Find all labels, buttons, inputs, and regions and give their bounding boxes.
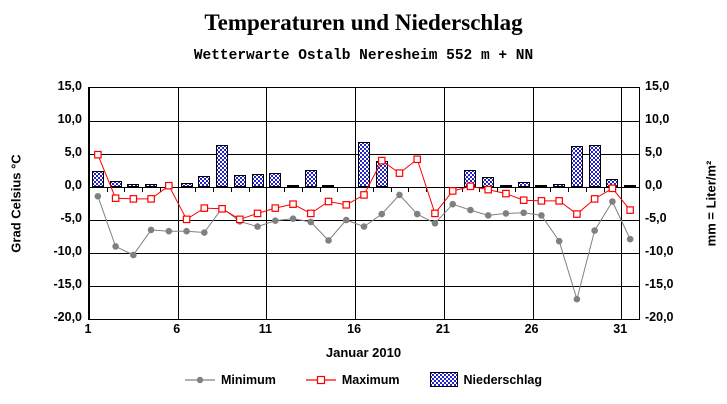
series-minimum	[95, 192, 634, 303]
point-minimum-day-4	[148, 227, 155, 234]
y-tick-label-right-5-0: 5,0	[645, 145, 693, 159]
point-maximum-day-15	[343, 202, 349, 208]
point-minimum-day-15	[343, 217, 350, 224]
y-tick-label-right--10-0: -10,0	[645, 244, 693, 258]
point-maximum-day-24	[503, 190, 509, 196]
point-minimum-day-17	[378, 211, 385, 218]
x-tick-label-6: 6	[162, 322, 192, 336]
point-maximum-day-8	[219, 206, 225, 212]
chart-title: Temperaturen und Niederschlag	[0, 10, 727, 36]
point-maximum-day-30	[609, 185, 615, 191]
y-tick-label-right-10-0: 10,0	[645, 112, 693, 126]
point-minimum-day-5	[166, 228, 173, 235]
point-minimum-day-11	[272, 217, 279, 224]
series-maximum	[95, 151, 634, 222]
legend-label-maximum: Maximum	[342, 373, 400, 387]
line-minimum	[98, 195, 630, 299]
point-maximum-day-13	[308, 210, 314, 216]
point-maximum-day-27	[556, 198, 562, 204]
point-minimum-day-1	[95, 193, 102, 200]
point-maximum-day-3	[130, 196, 136, 202]
point-maximum-day-7	[201, 205, 207, 211]
point-maximum-day-2	[112, 195, 118, 201]
point-maximum-day-29	[591, 196, 597, 202]
point-maximum-day-1	[95, 151, 101, 157]
y-tick-label-left--10-0: -10,0	[34, 244, 82, 258]
point-minimum-day-14	[325, 237, 332, 244]
y-tick-label-left-5-0: 5,0	[34, 145, 82, 159]
point-maximum-day-16	[361, 192, 367, 198]
y-tick-label-right--5-0: -5,0	[645, 211, 693, 225]
point-minimum-day-26	[538, 212, 545, 219]
temperature-series	[89, 88, 639, 319]
point-minimum-day-3	[130, 252, 137, 259]
point-minimum-day-13	[307, 219, 314, 226]
point-maximum-day-9	[237, 216, 243, 222]
y-tick-label-right-15-0: 15,0	[645, 79, 693, 93]
y-tick-label-right--20-0: -20,0	[645, 310, 693, 324]
point-maximum-day-4	[148, 196, 154, 202]
legend-item-minimum[interactable]: Minimum	[185, 373, 276, 387]
point-minimum-day-6	[183, 228, 190, 235]
point-maximum-day-23	[485, 186, 491, 192]
minimum-line-icon	[185, 374, 215, 386]
point-minimum-day-25	[520, 209, 527, 216]
point-maximum-day-12	[290, 201, 296, 207]
point-minimum-day-2	[112, 243, 119, 250]
point-minimum-day-18	[396, 192, 403, 199]
point-maximum-day-19	[414, 156, 420, 162]
x-tick-label-1: 1	[73, 322, 103, 336]
point-minimum-day-16	[361, 223, 368, 230]
point-maximum-day-17	[379, 157, 385, 163]
chart-container: Temperaturen und Niederschlag Wetterwart…	[0, 0, 727, 404]
point-maximum-day-25	[520, 197, 526, 203]
plot-area	[88, 87, 640, 320]
chart-legend: Minimum Maximum Niederschlag	[0, 372, 727, 387]
point-maximum-day-6	[183, 216, 189, 222]
y-tick-label-right--15-0: -15,0	[645, 277, 693, 291]
point-maximum-day-18	[396, 170, 402, 176]
point-maximum-day-14	[325, 198, 331, 204]
point-minimum-day-31	[627, 236, 634, 243]
x-tick-label-21: 21	[428, 322, 458, 336]
legend-label-minimum: Minimum	[221, 373, 276, 387]
y-tick-label-left-0-0: 0,0	[34, 178, 82, 192]
y-tick-label-left-10-0: 10,0	[34, 112, 82, 126]
point-minimum-day-29	[591, 227, 598, 234]
point-maximum-day-31	[627, 207, 633, 213]
point-minimum-day-12	[290, 215, 297, 222]
point-maximum-day-22	[467, 183, 473, 189]
point-minimum-day-10	[254, 223, 261, 230]
y-tick-label-left-15-0: 15,0	[34, 79, 82, 93]
tickmark-day-32	[639, 187, 640, 192]
legend-item-niederschlag[interactable]: Niederschlag	[430, 372, 543, 387]
point-maximum-day-28	[574, 211, 580, 217]
y-tick-label-right-0-0: 0,0	[645, 178, 693, 192]
point-minimum-day-28	[574, 296, 581, 303]
line-maximum	[98, 155, 630, 220]
point-minimum-day-24	[503, 210, 510, 217]
y-axis-label-right: mm = Liter/m²	[704, 124, 719, 284]
x-axis-label: Januar 2010	[0, 345, 727, 360]
point-minimum-day-7	[201, 229, 208, 236]
x-tick-label-31: 31	[605, 322, 635, 336]
chart-subtitle: Wetterwarte Ostalb Neresheim 552 m + NN	[0, 48, 727, 64]
y-tick-label-left--15-0: -15,0	[34, 277, 82, 291]
x-tick-label-16: 16	[339, 322, 369, 336]
point-minimum-day-30	[609, 198, 616, 205]
legend-item-maximum[interactable]: Maximum	[306, 373, 400, 387]
point-minimum-day-27	[556, 238, 563, 245]
y-axis-label-left: Grad Celsius °C	[9, 124, 24, 284]
point-maximum-day-10	[254, 210, 260, 216]
point-maximum-day-21	[450, 188, 456, 194]
point-minimum-day-22	[467, 207, 474, 214]
point-minimum-day-19	[414, 211, 421, 218]
y-tick-label-left--5-0: -5,0	[34, 211, 82, 225]
point-minimum-day-23	[485, 212, 492, 219]
legend-label-niederschlag: Niederschlag	[464, 373, 543, 387]
point-maximum-day-20	[432, 210, 438, 216]
point-maximum-day-11	[272, 205, 278, 211]
point-minimum-day-21	[449, 201, 456, 208]
point-minimum-day-20	[432, 220, 439, 227]
point-maximum-day-26	[538, 198, 544, 204]
x-tick-label-11: 11	[250, 322, 280, 336]
maximum-line-icon	[306, 374, 336, 386]
precipitation-swatch-icon	[430, 372, 458, 387]
x-tick-label-26: 26	[517, 322, 547, 336]
point-maximum-day-5	[166, 182, 172, 188]
